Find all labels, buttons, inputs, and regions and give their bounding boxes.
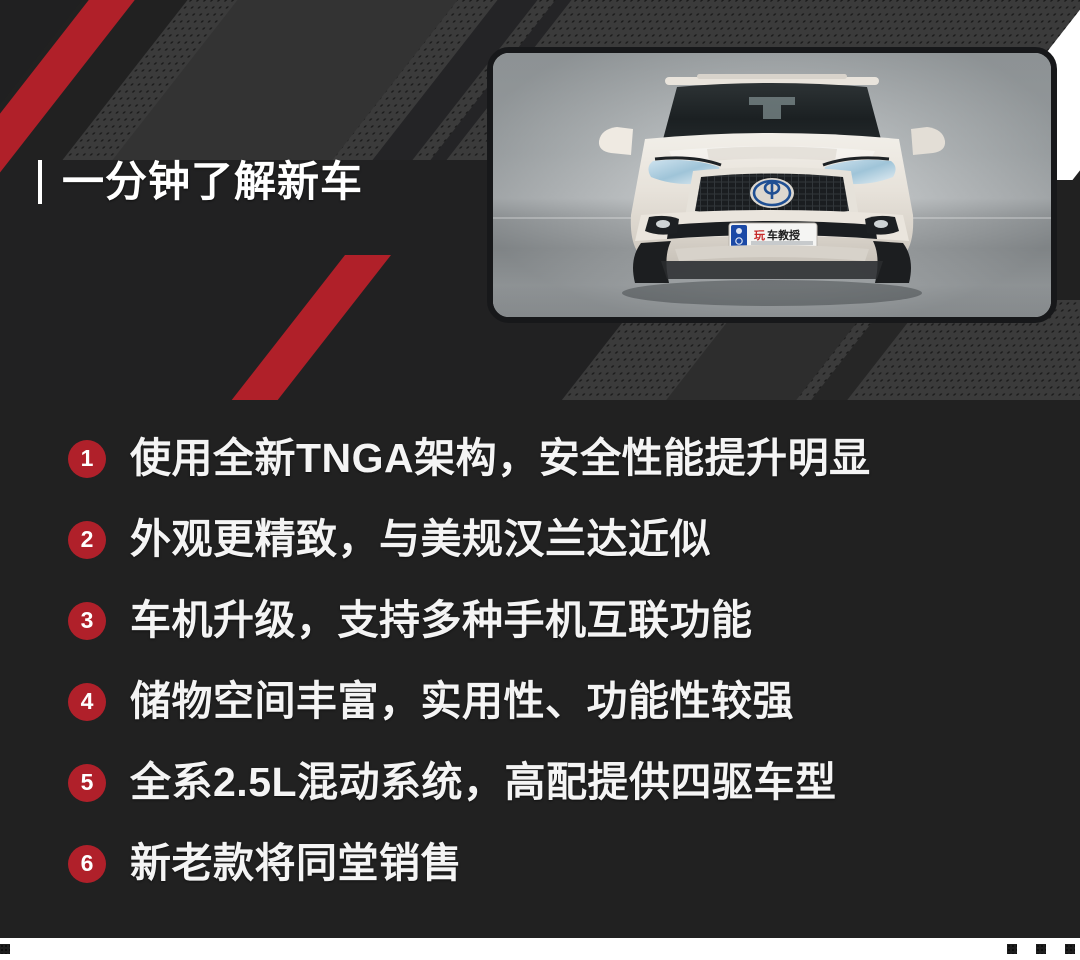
list-item: 1 使用全新TNGA架构，安全性能提升明显 <box>0 418 1080 499</box>
footer-notch-1 <box>1007 944 1017 954</box>
title-accent-bar <box>38 160 42 204</box>
list-number-badge: 3 <box>68 602 106 640</box>
list-item-label: 新老款将同堂销售 <box>130 843 462 884</box>
poster-canvas: 一分钟了解新车 <box>0 0 1080 960</box>
list-number-badge: 1 <box>68 440 106 478</box>
list-item-label: 车机升级，支持多种手机互联功能 <box>130 600 753 641</box>
list-item: 2 外观更精致，与美规汉兰达近似 <box>0 499 1080 580</box>
list-number-badge: 5 <box>68 764 106 802</box>
diagonal-band-1 <box>0 0 520 480</box>
svg-text:玩: 玩 <box>754 229 765 242</box>
list-number-badge: 6 <box>68 845 106 883</box>
vehicle-photo-card: 玩 车教授 <box>487 47 1057 323</box>
list-item-label: 全系2.5L混动系统，高配提供四驱车型 <box>130 762 837 803</box>
toyota-logo-icon <box>750 178 794 208</box>
footer-notch-3 <box>1065 944 1075 954</box>
list-number-badge: 2 <box>68 521 106 559</box>
list-item: 4 储物空间丰富，实用性、功能性较强 <box>0 661 1080 742</box>
feature-list: 1 使用全新TNGA架构，安全性能提升明显 2 外观更精致，与美规汉兰达近似 3… <box>0 418 1080 904</box>
page-title: 一分钟了解新车 <box>38 160 363 204</box>
title-label: 一分钟了解新车 <box>62 161 363 203</box>
list-item: 5 全系2.5L混动系统，高配提供四驱车型 <box>0 742 1080 823</box>
red-diagonal-band-top <box>0 0 166 270</box>
list-item-label: 外观更精致，与美规汉兰达近似 <box>130 519 711 560</box>
list-item-label: 使用全新TNGA架构，安全性能提升明显 <box>130 438 871 479</box>
footer-divider <box>0 938 1080 960</box>
footer-notch-left <box>0 944 10 954</box>
footer-notch-2 <box>1036 944 1046 954</box>
list-item: 6 新老款将同堂销售 <box>0 823 1080 904</box>
list-number-badge: 4 <box>68 683 106 721</box>
suv-front-illustration: 玩 车教授 <box>557 65 987 315</box>
list-item: 3 车机升级，支持多种手机互联功能 <box>0 580 1080 661</box>
list-item-label: 储物空间丰富，实用性、功能性较强 <box>130 681 794 722</box>
svg-text:车教授: 车教授 <box>767 228 801 242</box>
vehicle-photo: 玩 车教授 <box>493 53 1051 317</box>
